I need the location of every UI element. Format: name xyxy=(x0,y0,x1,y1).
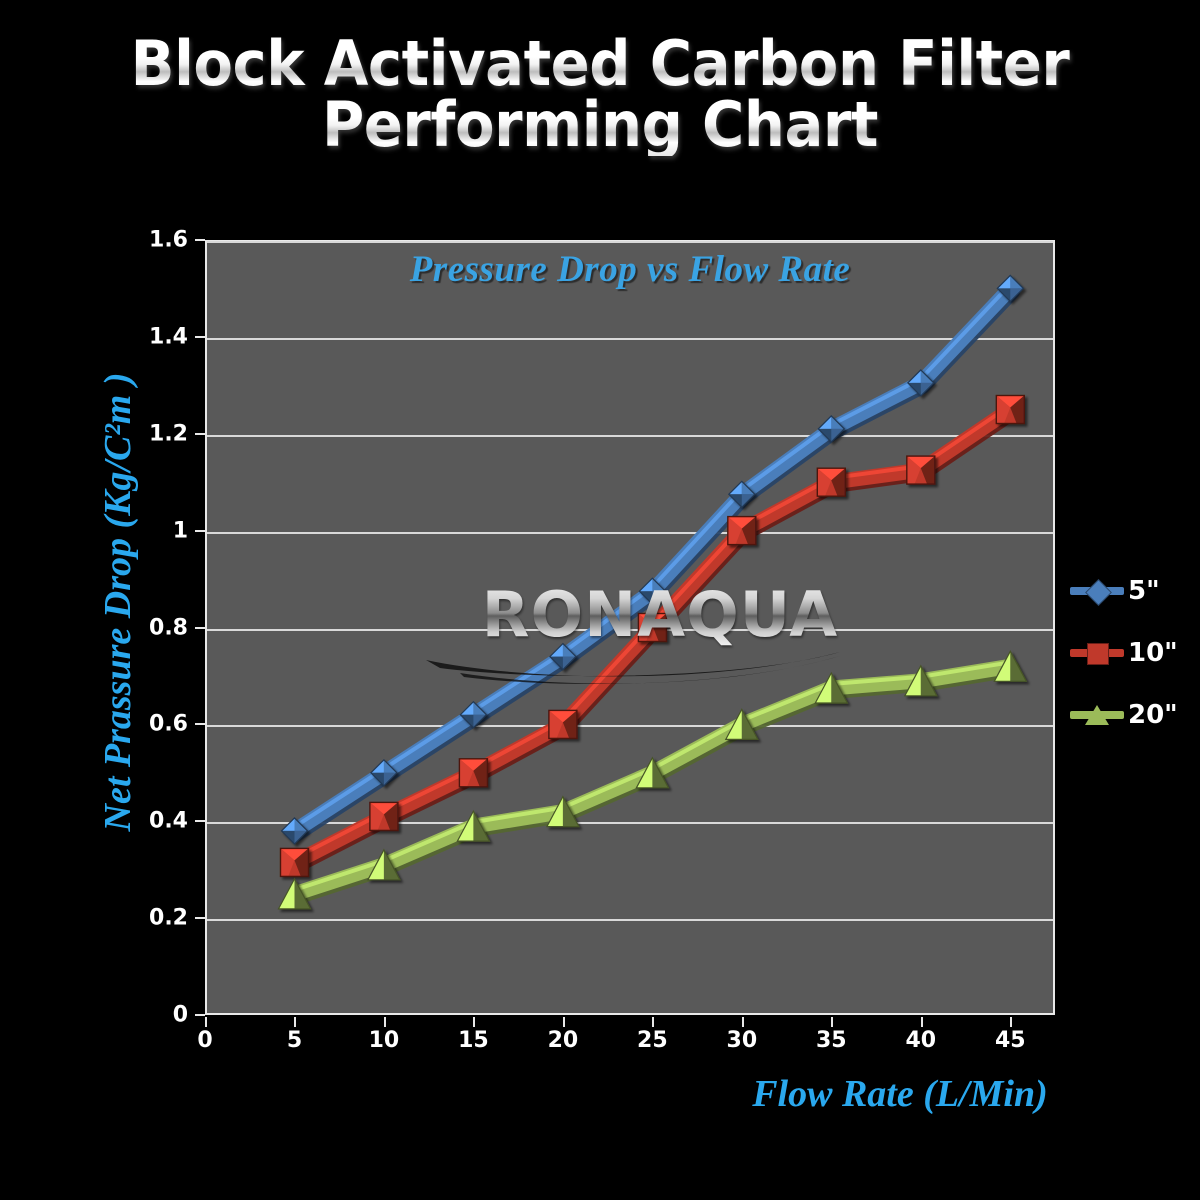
chart-figure: Pressure Drop vs Flow Rate 00.20.40.60.8… xyxy=(0,0,1200,1200)
legend-swatch-square-icon xyxy=(1070,640,1124,666)
data-point-marker xyxy=(996,396,1024,424)
data-point-marker xyxy=(638,614,666,642)
legend-item-3[interactable]: 20" xyxy=(1070,684,1195,746)
series-line xyxy=(295,288,1011,831)
legend-marker-diamond-icon xyxy=(1085,579,1112,606)
data-point-marker xyxy=(370,802,398,830)
data-point-marker xyxy=(281,848,309,876)
legend-marker-square-icon xyxy=(1087,643,1109,665)
data-point-marker xyxy=(817,468,845,496)
legend-item-2[interactable]: 10" xyxy=(1070,622,1195,684)
legend-swatch-triangle-icon xyxy=(1070,702,1124,728)
data-point-marker xyxy=(549,710,577,738)
legend-swatch-diamond-icon xyxy=(1070,578,1124,604)
legend-label: 20" xyxy=(1128,700,1178,730)
legend-label: 10" xyxy=(1128,638,1178,668)
chart-page: Block Activated Carbon Filter Performing… xyxy=(0,0,1200,1200)
chart-legend: 5"10"20" xyxy=(1070,560,1195,746)
legend-label: 5" xyxy=(1128,576,1160,606)
series-line-highlight xyxy=(295,284,1011,827)
series-2 xyxy=(281,396,1025,877)
legend-marker-triangle-icon xyxy=(1085,705,1109,725)
series-layer xyxy=(0,0,1200,1200)
legend-item-1[interactable]: 5" xyxy=(1070,560,1195,622)
data-point-marker xyxy=(459,759,487,787)
data-point-marker xyxy=(728,517,756,545)
data-point-marker xyxy=(907,456,935,484)
